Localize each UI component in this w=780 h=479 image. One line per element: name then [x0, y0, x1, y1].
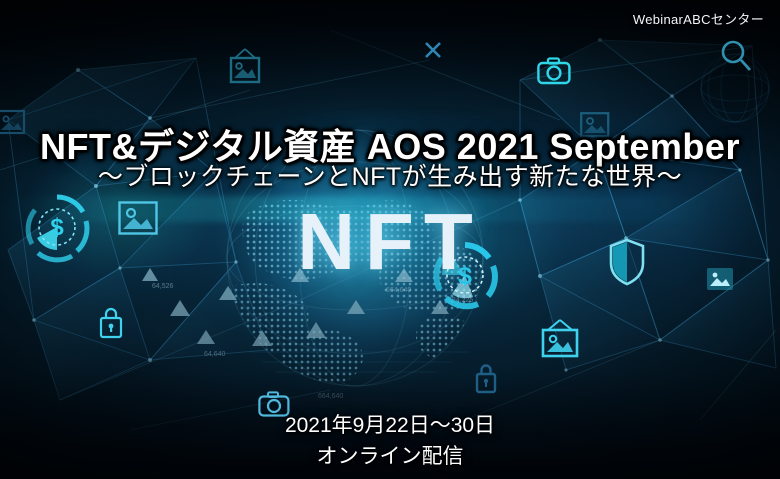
nft-wordmark: NFT	[0, 196, 780, 288]
lock-icon	[474, 362, 498, 399]
close-icon	[424, 41, 442, 64]
camera-icon	[537, 57, 571, 90]
search-icon	[718, 38, 754, 79]
event-date: 2021年9月22日〜30日	[0, 410, 780, 441]
event-details: 2021年9月22日〜30日 オンライン配信	[0, 410, 780, 472]
picture-frame-icon	[226, 47, 264, 92]
picture-frame-icon	[539, 317, 581, 364]
nft-webinar-poster: 64,526 664,640 664,640 684,225 64,640 $	[0, 0, 780, 479]
event-format: オンライン配信	[0, 441, 780, 472]
lock-icon	[98, 305, 124, 344]
brand-label: WebinarABCセンター	[633, 9, 764, 28]
page-subtitle: 〜ブロックチェーンとNFTが生み出す新たな世界〜	[0, 157, 780, 193]
